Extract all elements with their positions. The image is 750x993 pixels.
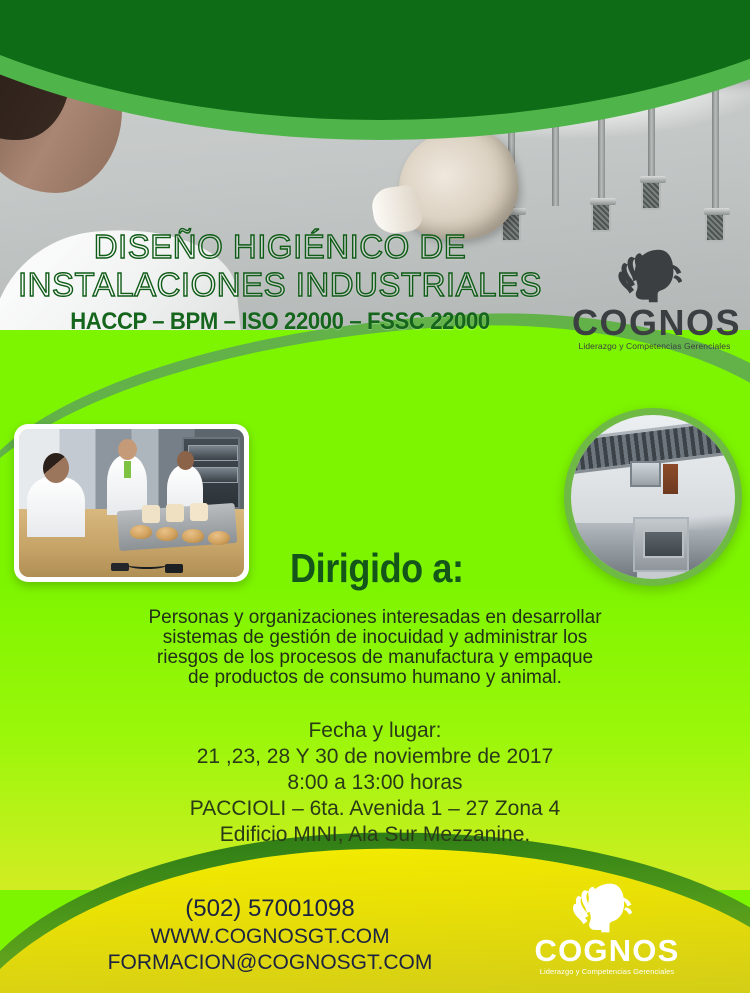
counter-base-right (686, 530, 735, 579)
poster-title-block: DISEÑO HIGIÉNICO DE INSTALACIONES INDUST… (0, 228, 560, 336)
venue-detail: Edificio MINI, Ala Sur Mezzanine. (0, 822, 750, 848)
contact-phone[interactable]: (502) 57001098 (60, 894, 480, 924)
audience-heading: Dirigido a: (290, 545, 580, 592)
contact-email[interactable]: FORMACION@COGNOSGT.COM (60, 950, 480, 976)
bread-roll (156, 527, 178, 541)
thermometer-probe (165, 564, 183, 573)
bakery-lab-photo (19, 429, 244, 577)
nozzle-head-3 (591, 202, 611, 232)
audience-line: de productos de consumo humano y animal. (60, 668, 690, 688)
commercial-range-oven (633, 517, 689, 573)
venue-address: PACCIOLI – 6ta. Avenida 1 – 27 Zona 4 (0, 796, 750, 822)
technician-2-head (118, 439, 137, 460)
bread-slice (190, 503, 208, 521)
wooden-door (663, 464, 678, 494)
nozzle-head-4 (641, 180, 661, 210)
standards-subtitle: HACCP – BPM – ISO 22000 – FSSC 22000 (22, 308, 537, 336)
technician-1-head (43, 453, 69, 483)
audience-heading-block: Dirigido a: (290, 545, 620, 592)
bakery-lab-photo-card (14, 424, 249, 582)
bread-roll (208, 531, 230, 545)
bread-slice (166, 504, 184, 522)
title-line-1: DISEÑO HIGIÉNICO DE (0, 228, 560, 266)
schedule-dates: 21 ,23, 28 Y 30 de noviembre de 2017 (0, 744, 750, 770)
service-window (630, 461, 661, 487)
audience-line: Personas y organizaciones interesadas en… (60, 608, 690, 628)
schedule-label: Fecha y lugar: (0, 718, 750, 744)
contact-block: (502) 57001098 WWW.COGNOSGT.COM FORMACIO… (60, 894, 480, 976)
audience-line: riesgos de los procesos de manufactura y… (60, 648, 690, 668)
brand-logo-footer: COGNOS Liderazgo y Competencias Gerencia… (532, 882, 682, 976)
probe-cable (127, 561, 167, 569)
brand-tagline: Liderazgo y Competencias Gerenciales (572, 341, 737, 351)
schedule-block: Fecha y lugar: 21 ,23, 28 Y 30 de noviem… (0, 718, 750, 848)
nozzle-stem-5 (712, 90, 719, 218)
bread-slice (142, 505, 160, 523)
technician-3-head (177, 451, 194, 470)
schedule-hours: 8:00 a 13:00 horas (0, 770, 750, 796)
footer-content: (502) 57001098 WWW.COGNOSGT.COM FORMACIO… (0, 880, 750, 993)
brand-tagline: Liderazgo y Competencias Gerenciales (532, 967, 682, 976)
bread-roll (182, 529, 204, 543)
bread-roll (130, 525, 152, 539)
technician-2-tie (124, 461, 131, 478)
nozzle-head-5 (705, 212, 725, 242)
audience-line: sistemas de gestión de inocuidad y admin… (60, 628, 690, 648)
title-line-2: INSTALACIONES INDUSTRIALES (0, 266, 560, 304)
audience-description: Personas y organizaciones interesadas en… (0, 608, 750, 688)
head-profile-hand-icon (532, 882, 682, 934)
flyer-poster: DISEÑO HIGIÉNICO DE INSTALACIONES INDUST… (0, 0, 750, 993)
technician-1-body (27, 477, 85, 537)
brand-logo-header: COGNOS Liderazgo y Competencias Gerencia… (572, 248, 737, 351)
head-profile-hand-icon (572, 248, 737, 304)
brand-wordmark: COGNOS (572, 306, 737, 340)
contact-website[interactable]: WWW.COGNOSGT.COM (60, 924, 480, 950)
brand-wordmark: COGNOS (532, 936, 682, 966)
